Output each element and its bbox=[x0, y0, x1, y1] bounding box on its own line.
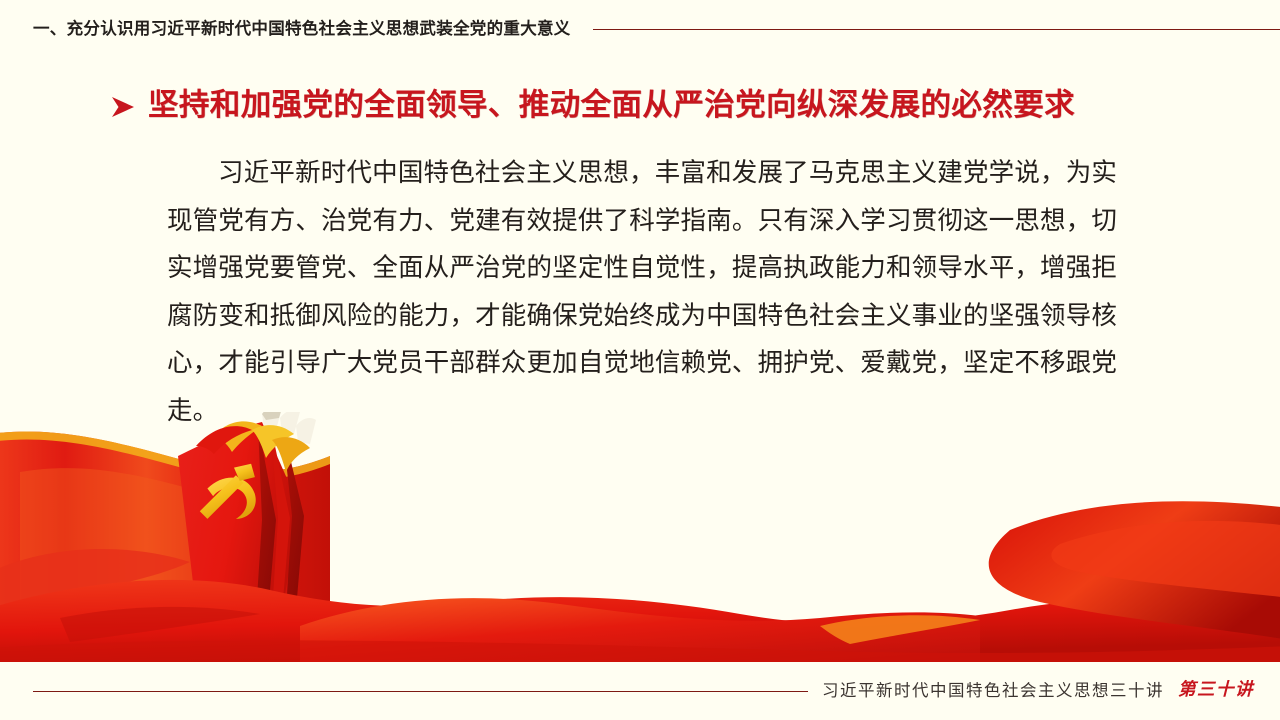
section-heading: 坚持和加强党的全面领导、推动全面从严治党向纵深发展的必然要求 bbox=[0, 89, 1280, 123]
flag-fold-3 bbox=[282, 424, 304, 610]
slide-header: 一、充分认识用习近平新时代中国特色社会主义思想武装全党的重大意义 bbox=[0, 14, 1280, 44]
decoration-svg bbox=[0, 412, 1280, 662]
section-heading-text: 坚持和加强党的全面领导、推动全面从严治党向纵深发展的必然要求 bbox=[148, 89, 1075, 123]
flag-fold-1 bbox=[256, 424, 276, 614]
ribbon-orange-streak bbox=[820, 615, 980, 644]
ribbon-fold-left bbox=[0, 549, 190, 614]
slide-canvas: 一、充分认识用习近平新时代中国特色社会主义思想武装全党的重大意义 坚持和加强党的… bbox=[0, 0, 1280, 720]
footer-series-label: 习近平新时代中国特色社会主义思想三十讲 bbox=[822, 683, 1164, 700]
flag-gold-edge bbox=[0, 431, 330, 479]
ribbon-right-swirl bbox=[989, 501, 1280, 640]
ribbon-center-wave bbox=[300, 598, 980, 662]
arrow-bullet-icon bbox=[110, 91, 136, 123]
slide-footer: 习近平新时代中国特色社会主义思想三十讲 第三十讲 bbox=[0, 662, 1280, 720]
flag-fold-2 bbox=[270, 422, 290, 612]
red-flag-ribbon-artwork bbox=[0, 412, 1280, 662]
footer-divider-rule bbox=[33, 691, 808, 692]
header-divider-rule bbox=[593, 29, 1280, 30]
body-paragraph: 习近平新时代中国特色社会主义思想，丰富和发展了马克思主义建党学说，为实现管党有方… bbox=[167, 150, 1117, 435]
flag-main-body bbox=[0, 431, 330, 622]
ribbon-right-highlight bbox=[1051, 521, 1280, 598]
flag-highlight bbox=[20, 468, 210, 602]
footer-lecture-number: 第三十讲 bbox=[1178, 682, 1254, 700]
ribbon-dark-streak bbox=[60, 607, 260, 642]
header-section-title: 一、充分认识用习近平新时代中国特色社会主义思想武装全党的重大意义 bbox=[33, 21, 571, 38]
flag-emblem-panel bbox=[178, 422, 300, 612]
ribbon-lower-main bbox=[0, 580, 1280, 662]
ribbon-bottom-band bbox=[0, 640, 1280, 662]
hammer-and-sickle-icon bbox=[200, 464, 256, 519]
